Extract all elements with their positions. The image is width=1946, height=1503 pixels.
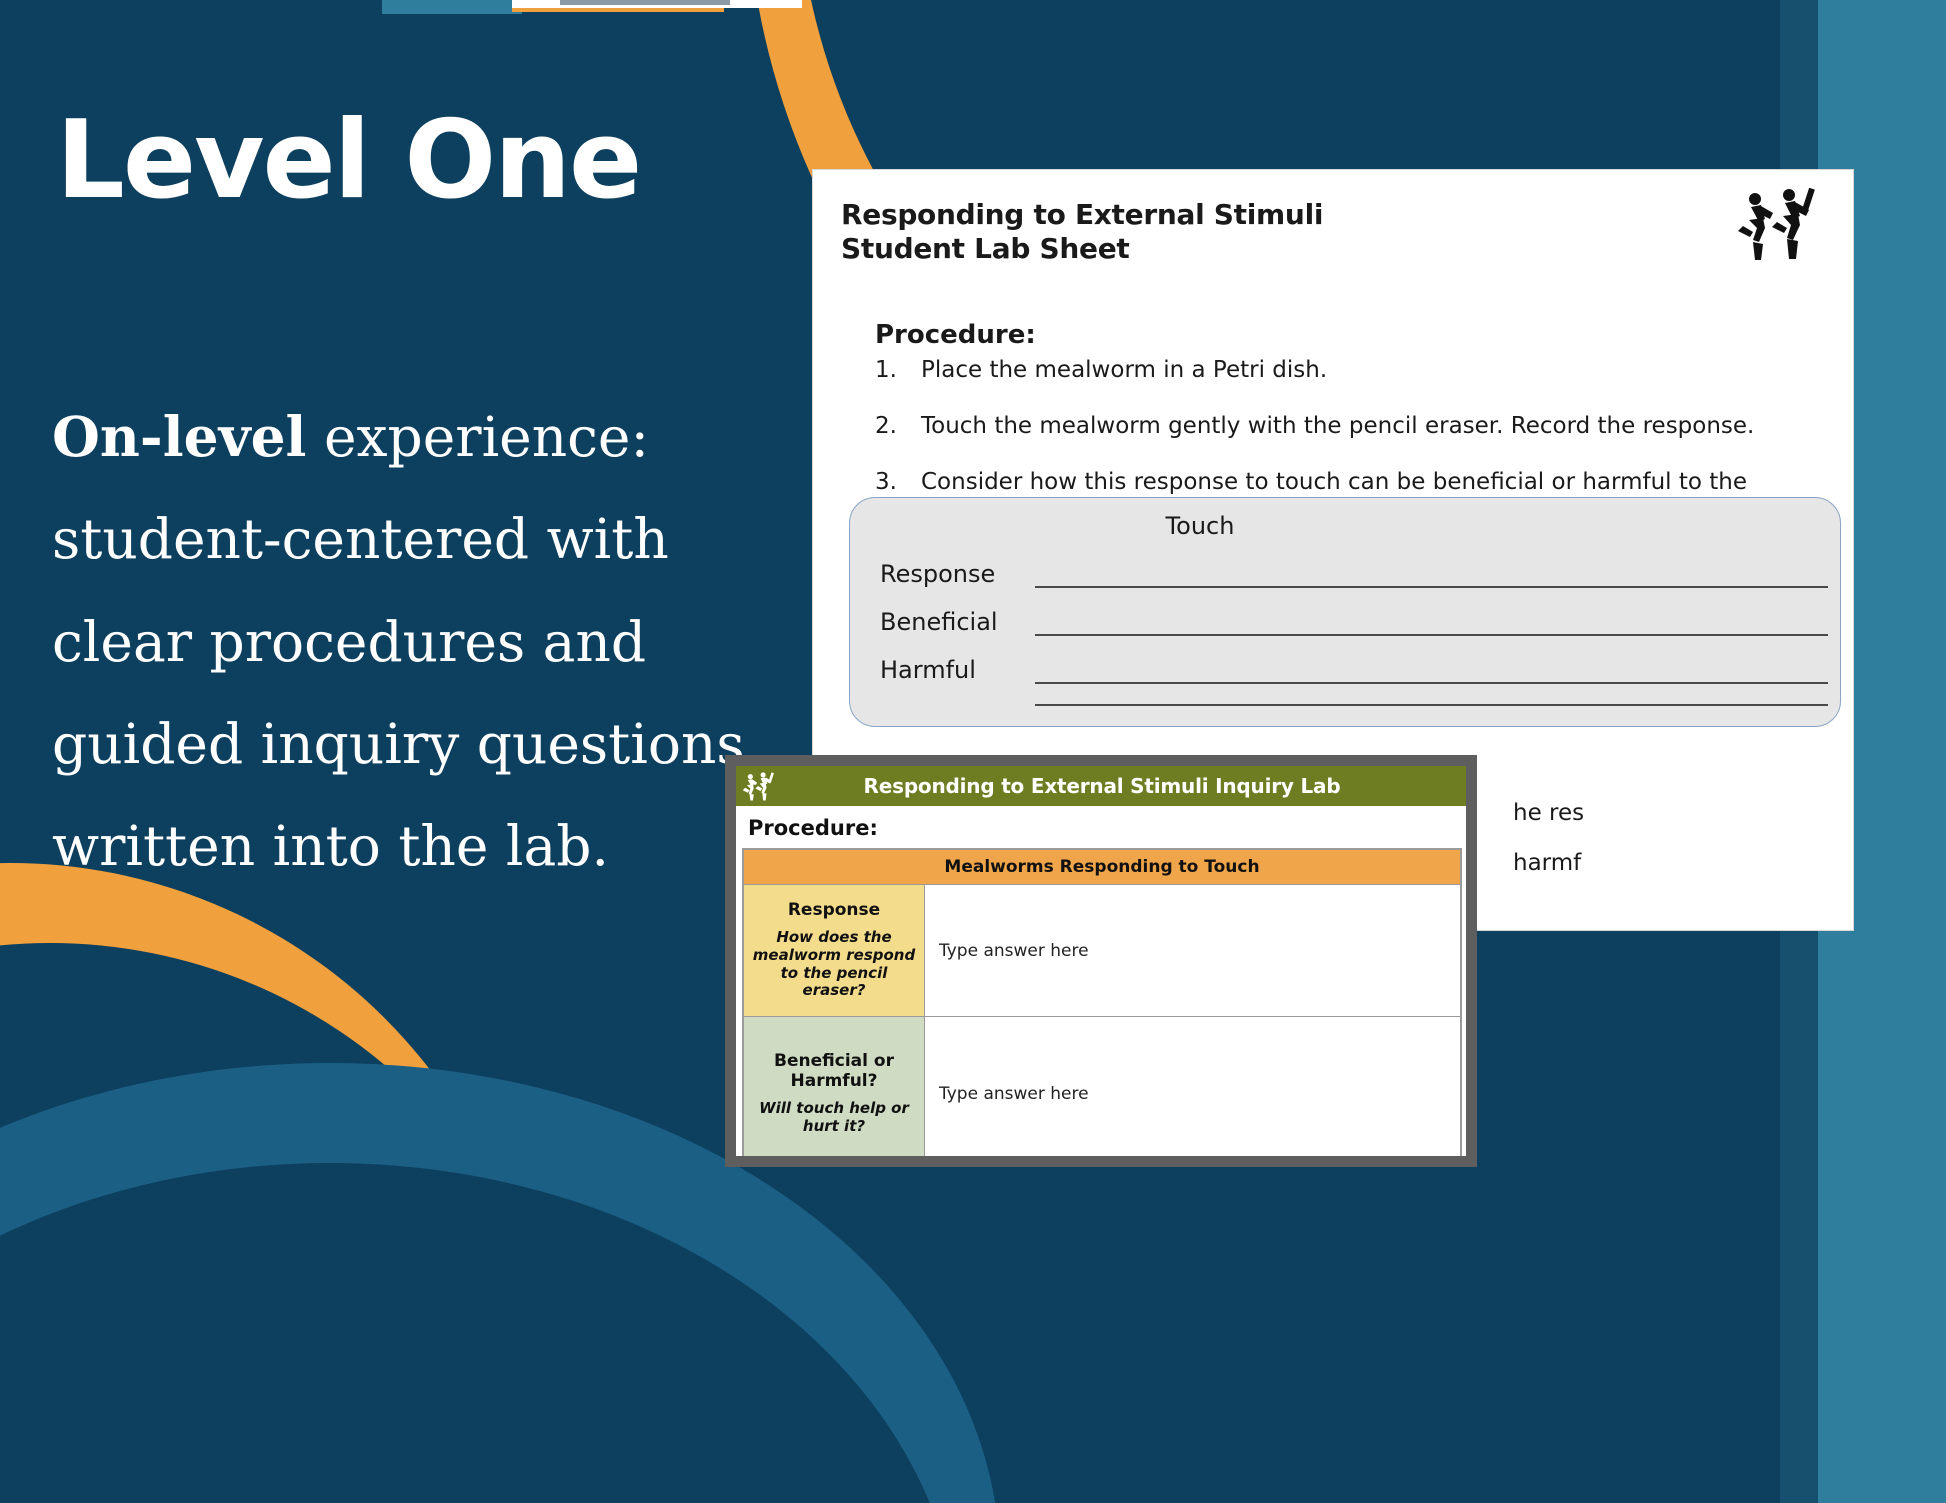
inquiry-table-banner: Mealworms Responding to Touch <box>743 849 1461 885</box>
step-text: Place the mealworm in a Petri dish. <box>921 356 1835 386</box>
question-subtext: Will touch help or hurt it? <box>752 1100 916 1135</box>
write-in-line[interactable] <box>1035 560 1828 588</box>
lab-sheet-step: 2. Touch the mealworm gently with the pe… <box>875 412 1835 442</box>
step-text: Touch the mealworm gently with the penci… <box>921 412 1835 442</box>
table-row: Beneficial or Harmful? Will touch help o… <box>743 1017 1461 1167</box>
lab-sheet-title-line2: Student Lab Sheet <box>841 232 1323 266</box>
lab-sheet-title: Responding to External Stimuli Student L… <box>841 198 1323 266</box>
body-paragraph: On-level experience: student-centered wi… <box>52 386 812 897</box>
table-column-header-touch: Touch <box>850 512 1840 540</box>
question-title: Beneficial or Harmful? <box>752 1052 916 1091</box>
question-title: Response <box>752 901 916 921</box>
body-lead-emphasis: On-level <box>52 404 306 469</box>
write-in-line[interactable] <box>1035 608 1828 636</box>
answer-placeholder: Type answer here <box>939 1084 1089 1104</box>
inquiry-lab-document: Responding to External Stimuli Inquiry L… <box>725 755 1477 1167</box>
lab-sheet-peek-text-2: harmf <box>1513 850 1581 876</box>
inquiry-answer-cell-beneficial-harmful[interactable]: Type answer here <box>925 1017 1461 1167</box>
inquiry-answer-cell-response[interactable]: Type answer here <box>925 885 1461 1017</box>
answer-placeholder: Type answer here <box>939 941 1089 961</box>
inquiry-lab-procedure-heading: Procedure: <box>736 806 1466 848</box>
lab-sheet-title-line1: Responding to External Stimuli <box>841 198 1323 232</box>
lab-sheet-response-table: Touch Response Beneficial Harmful <box>849 497 1841 727</box>
top-bar-teal <box>382 0 522 14</box>
lab-sheet-step: 1. Place the mealworm in a Petri dish. <box>875 356 1835 386</box>
lab-sheet-peek-text-1: he res <box>1513 800 1584 826</box>
table-row: Response How does the mealworm respond t… <box>743 885 1461 1017</box>
running-students-icon <box>736 771 780 801</box>
running-students-icon <box>1731 186 1823 262</box>
inquiry-lab-header: Responding to External Stimuli Inquiry L… <box>736 766 1466 806</box>
row-label-harmful: Harmful <box>880 656 1035 684</box>
top-bar-grey <box>560 0 730 5</box>
table-row: Harmful <box>880 656 1828 684</box>
row-label-beneficial: Beneficial <box>880 608 1035 636</box>
table-row: Beneficial <box>880 608 1828 636</box>
step-number: 2. <box>875 412 921 442</box>
write-in-line[interactable] <box>1035 656 1828 684</box>
question-subtext: How does the mealworm respond to the pen… <box>752 929 916 1000</box>
step-number: 1. <box>875 356 921 386</box>
body-rest-text: experience: student-centered with clear … <box>52 405 745 878</box>
inquiry-question-cell-beneficial-harmful: Beneficial or Harmful? Will touch help o… <box>743 1017 925 1167</box>
row-label-response: Response <box>880 560 1035 588</box>
slide-canvas: Level One On-level experience: student-c… <box>0 0 1946 1503</box>
inquiry-lab-title: Responding to External Stimuli Inquiry L… <box>780 774 1466 798</box>
inquiry-lab-table: Mealworms Responding to Touch Response H… <box>742 848 1462 1167</box>
write-in-line[interactable] <box>1035 704 1828 706</box>
inquiry-question-cell-response: Response How does the mealworm respond t… <box>743 885 925 1017</box>
page-title: Level One <box>56 104 640 217</box>
lab-sheet-procedure-heading: Procedure: <box>875 320 1036 350</box>
table-row: Response <box>880 560 1828 588</box>
